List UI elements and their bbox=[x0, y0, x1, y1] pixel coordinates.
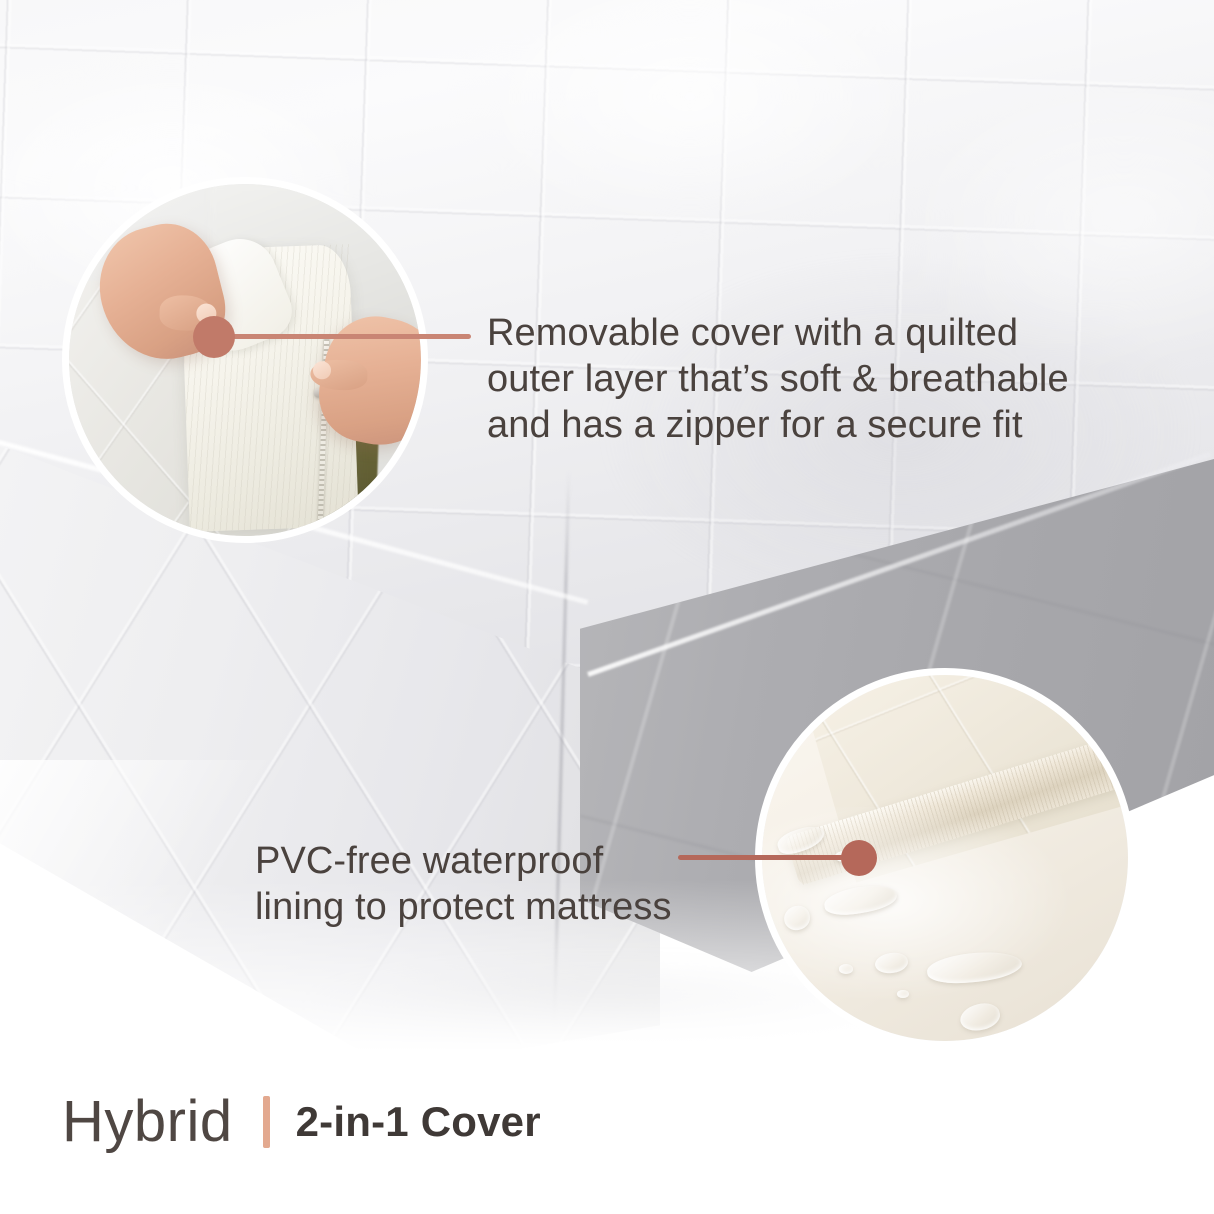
water-droplet bbox=[897, 990, 909, 998]
callout-text-removable-cover: Removable cover with a quilted outer lay… bbox=[487, 310, 1069, 448]
callout-line: and has a zipper for a secure fit bbox=[487, 402, 1069, 448]
callout-line: outer layer that’s soft & breathable bbox=[487, 356, 1069, 402]
product-subtitle: 2-in-1 Cover bbox=[296, 1101, 541, 1143]
waterproof-lining-dot bbox=[841, 840, 877, 876]
callout-leader-line-lining bbox=[678, 855, 860, 860]
callout-line: PVC-free waterproof bbox=[255, 838, 672, 884]
footer-divider bbox=[263, 1096, 270, 1148]
zipper-detail-dot bbox=[193, 316, 235, 358]
water-droplet bbox=[839, 964, 854, 974]
callout-line: Removable cover with a quilted bbox=[487, 310, 1069, 356]
zipper-inset-photo bbox=[62, 177, 428, 543]
callout-text-waterproof-lining: PVC-free waterproof lining to protect ma… bbox=[255, 838, 672, 930]
zipper-inset-image bbox=[69, 184, 421, 536]
callout-leader-line-cover bbox=[213, 334, 471, 339]
footer-branding: Hybrid 2-in-1 Cover bbox=[62, 1093, 541, 1151]
callout-line: lining to protect mattress bbox=[255, 884, 672, 930]
product-name: Hybrid bbox=[62, 1093, 233, 1151]
infographic-canvas: Removable cover with a quilted outer lay… bbox=[0, 0, 1214, 1214]
